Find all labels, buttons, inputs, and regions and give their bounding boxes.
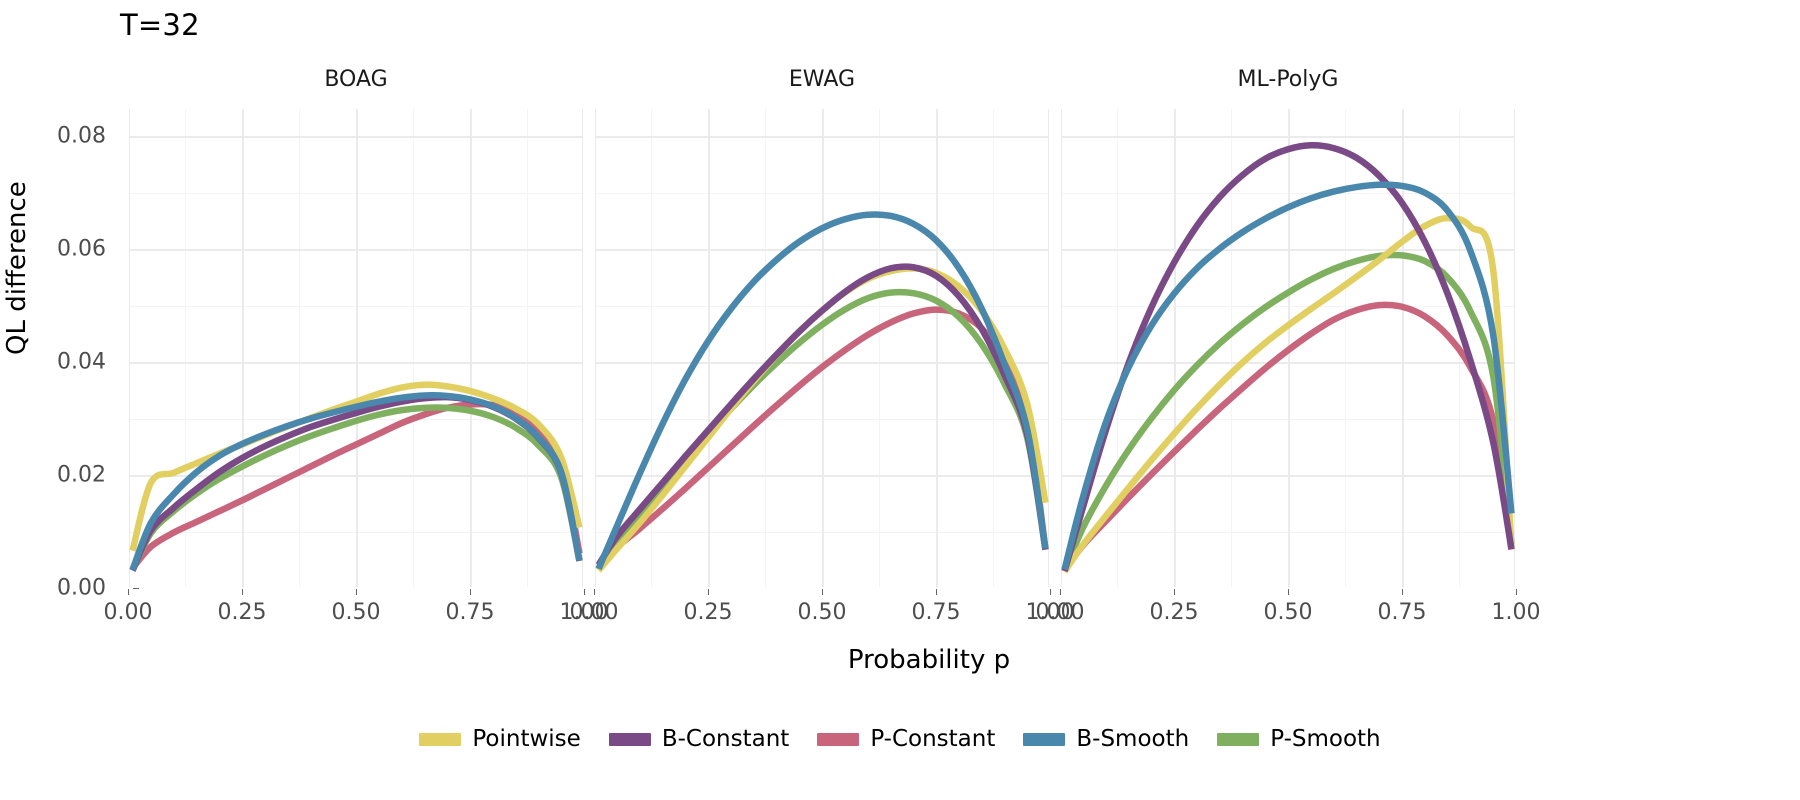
x-axis-tick-mark (822, 589, 823, 595)
legend-item-b-constant[interactable]: B-Constant (609, 726, 789, 752)
legend-item-p-smooth[interactable]: P-Smooth (1217, 726, 1380, 752)
x-axis-tick-label: 0.25 (218, 600, 267, 625)
facet-strip-label: EWAG (789, 67, 855, 92)
x-axis-tick-mark (128, 589, 129, 595)
x-axis-tick-label: 1.00 (1492, 600, 1541, 625)
y-axis-tick-label: 0.04 (20, 350, 106, 375)
series-line-b-smooth (1065, 185, 1512, 570)
facet-strip-label: BOAG (324, 67, 387, 92)
series-line-p-constant (1065, 305, 1512, 571)
x-axis-tick-mark (1060, 589, 1061, 595)
legend-swatch-icon (609, 733, 651, 746)
legend-swatch-icon (419, 733, 461, 746)
y-axis-tick-mark (133, 588, 139, 589)
x-axis-tick-label: 0.50 (1264, 600, 1313, 625)
legend-label: P-Constant (870, 726, 995, 752)
legend-item-b-smooth[interactable]: B-Smooth (1023, 726, 1189, 752)
x-axis-tick-mark (936, 589, 937, 595)
x-axis-tick-mark (242, 589, 243, 595)
x-axis-tick-mark (1050, 589, 1051, 595)
x-axis-tick-mark (594, 589, 595, 595)
legend-label: P-Smooth (1270, 726, 1380, 752)
x-axis-tick-mark (1516, 589, 1517, 595)
x-axis-tick-label: 0.00 (104, 600, 153, 625)
x-axis-title-text: Probability p (848, 645, 1010, 675)
legend-item-pointwise[interactable]: Pointwise (419, 726, 580, 752)
y-axis-tick-label: 0.06 (20, 237, 106, 262)
legend-item-p-constant[interactable]: P-Constant (817, 726, 995, 752)
x-axis-tick-mark (356, 589, 357, 595)
facet-strip-ml-polyg: ML-PolyG (1060, 62, 1516, 96)
y-axis-tick-label: 0.00 (20, 576, 106, 601)
x-axis-tick-label: 0.00 (1036, 600, 1085, 625)
legend-swatch-icon (1023, 733, 1065, 746)
facet-strip-boag: BOAG (128, 62, 584, 96)
x-axis-tick-mark (1402, 589, 1403, 595)
chart-root: T=32 QL difference 0.000.020.040.060.08 … (0, 0, 1800, 800)
x-axis-tick-mark (584, 589, 585, 595)
x-axis-tick-label: 0.25 (684, 600, 733, 625)
legend-swatch-icon (817, 733, 859, 746)
y-axis-tick-label: 0.08 (20, 124, 106, 149)
x-axis-tick-label: 0.75 (1378, 600, 1427, 625)
x-axis-tick-label: 0.50 (332, 600, 381, 625)
x-axis-tick-label: 0.25 (1150, 600, 1199, 625)
x-axis-tick-mark (708, 589, 709, 595)
series-line-b-smooth (599, 214, 1046, 568)
panel-ml-polyg (1060, 108, 1516, 588)
series-line-p-smooth (1065, 255, 1512, 571)
series-canvas (594, 108, 1050, 588)
x-axis-tick-label: 0.50 (798, 600, 847, 625)
y-axis-tick-label: 0.02 (20, 463, 106, 488)
x-axis-title: Probability p (0, 645, 1800, 675)
facet-strip-ewag: EWAG (594, 62, 1050, 96)
series-line-p-smooth (599, 292, 1046, 570)
page-title: T=32 (120, 8, 200, 42)
series-canvas (128, 108, 584, 588)
x-axis-tick-label: 0.75 (912, 600, 961, 625)
legend-label: Pointwise (472, 726, 580, 752)
legend-swatch-icon (1217, 733, 1259, 746)
panel-boag (128, 108, 584, 588)
y-axis-tick-layer: 0.000.020.040.060.08 (20, 0, 106, 800)
facet-strip-label: ML-PolyG (1238, 67, 1339, 92)
x-axis-tick-label: 0.00 (570, 600, 619, 625)
legend-label: B-Constant (662, 726, 789, 752)
x-axis-tick-mark (1174, 589, 1175, 595)
panel-ewag (594, 108, 1050, 588)
series-canvas (1060, 108, 1516, 588)
series-line-p-constant (599, 310, 1046, 566)
x-axis-tick-mark (470, 589, 471, 595)
legend-label: B-Smooth (1076, 726, 1189, 752)
x-axis-tick-mark (1288, 589, 1289, 595)
x-axis-tick-label: 0.75 (446, 600, 495, 625)
legend: PointwiseB-ConstantP-ConstantB-SmoothP-S… (0, 726, 1800, 752)
